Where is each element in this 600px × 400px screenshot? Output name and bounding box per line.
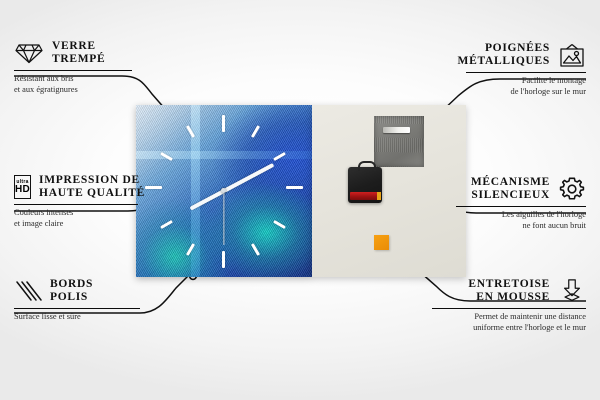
gear-icon bbox=[558, 176, 586, 202]
feature-title-2: HAUTE QUALITÉ bbox=[39, 187, 145, 200]
diamond-icon bbox=[14, 41, 44, 65]
hour-tick-9 bbox=[145, 186, 162, 189]
feature-desc-2: uniforme entre l'horloge et le mur bbox=[432, 323, 586, 334]
feature-title-2: EN MOUSSE bbox=[468, 291, 550, 304]
feature-title: POIGNÉES bbox=[458, 42, 550, 55]
ultra-hd-icon: ultra HD bbox=[14, 175, 31, 199]
hour-tick-5 bbox=[251, 243, 260, 256]
feature-title: BORDS bbox=[50, 278, 93, 291]
feature-divider bbox=[466, 72, 586, 73]
feature-desc-1: Résistant aux bris bbox=[14, 74, 132, 85]
feature-verre-trempe: VERRE TREMPÉ Résistant aux bris et aux é… bbox=[14, 40, 132, 96]
feature-mecanisme-silencieux: MÉCANISME SILENCIEUX Les aiguilles de l'… bbox=[456, 176, 586, 232]
battery bbox=[350, 192, 378, 200]
mechanism-hanger-loop bbox=[358, 161, 376, 171]
hour-tick-1 bbox=[251, 125, 260, 138]
feature-bords-polis: BORDS POLIS Surface lisse et sûre bbox=[14, 278, 140, 323]
hanger-keyhole-slot bbox=[383, 127, 410, 133]
feature-title-2: SILENCIEUX bbox=[471, 189, 550, 202]
feature-divider bbox=[456, 206, 586, 207]
feature-impression-haute-qualite: ultra HD IMPRESSION DE HAUTE QUALITÉ Cou… bbox=[14, 174, 138, 230]
feature-desc-1: Couleurs intenses bbox=[14, 208, 138, 219]
clock-back-panel bbox=[312, 105, 466, 277]
product-photo bbox=[136, 105, 466, 277]
feature-divider bbox=[14, 70, 132, 71]
feature-desc-2: et aux égratignures bbox=[14, 85, 132, 96]
clock-mechanism bbox=[348, 167, 382, 203]
diagonal-lines-icon bbox=[14, 279, 42, 303]
hands-center-cap bbox=[221, 188, 226, 193]
ultra-hd-icon-main: HD bbox=[15, 185, 30, 195]
hour-tick-8 bbox=[160, 220, 173, 229]
feature-divider bbox=[14, 308, 140, 309]
second-hand bbox=[223, 191, 224, 245]
hour-tick-3 bbox=[286, 186, 303, 189]
feature-desc-1: Les aiguilles de l'horloge bbox=[456, 210, 586, 221]
metal-hanger-plate bbox=[374, 116, 424, 167]
feature-title: VERRE bbox=[52, 40, 105, 53]
foam-spacer bbox=[374, 235, 389, 250]
battery-positive-tip bbox=[377, 192, 381, 200]
feature-desc-1: Surface lisse et sûre bbox=[14, 312, 140, 323]
clock-face-front bbox=[136, 105, 312, 277]
picture-frame-icon bbox=[558, 43, 586, 68]
feature-divider bbox=[432, 308, 586, 309]
feature-title-2: TREMPÉ bbox=[52, 53, 105, 66]
feature-desc-2: de l'horloge sur le mur bbox=[466, 87, 586, 98]
feature-desc-2: ne font aucun bruit bbox=[456, 221, 586, 232]
feature-title: ENTRETOISE bbox=[468, 278, 550, 291]
hour-tick-6 bbox=[222, 251, 225, 268]
minute-hand bbox=[223, 163, 274, 193]
feature-desc-1: Permet de maintenir une distance bbox=[432, 312, 586, 323]
feature-divider bbox=[14, 204, 138, 205]
feature-desc-1: Facilite le montage bbox=[466, 76, 586, 87]
infographic-canvas: VERRE TREMPÉ Résistant aux bris et aux é… bbox=[0, 0, 600, 400]
foam-spacer-arrow-icon bbox=[558, 278, 586, 304]
feature-title-2: POLIS bbox=[50, 291, 93, 304]
hour-tick-12 bbox=[222, 115, 225, 132]
feature-entretoise-en-mousse: ENTRETOISE EN MOUSSE Permet de maintenir… bbox=[432, 278, 586, 334]
feature-title-2: MÉTALLIQUES bbox=[458, 55, 550, 68]
feature-title: IMPRESSION DE bbox=[39, 174, 145, 187]
feature-title: MÉCANISME bbox=[471, 176, 550, 189]
feature-desc-2: et image claire bbox=[14, 219, 138, 230]
hour-tick-4 bbox=[273, 220, 286, 229]
feature-poignees-metalliques: POIGNÉES MÉTALLIQUES Facilite le montage… bbox=[466, 42, 586, 98]
